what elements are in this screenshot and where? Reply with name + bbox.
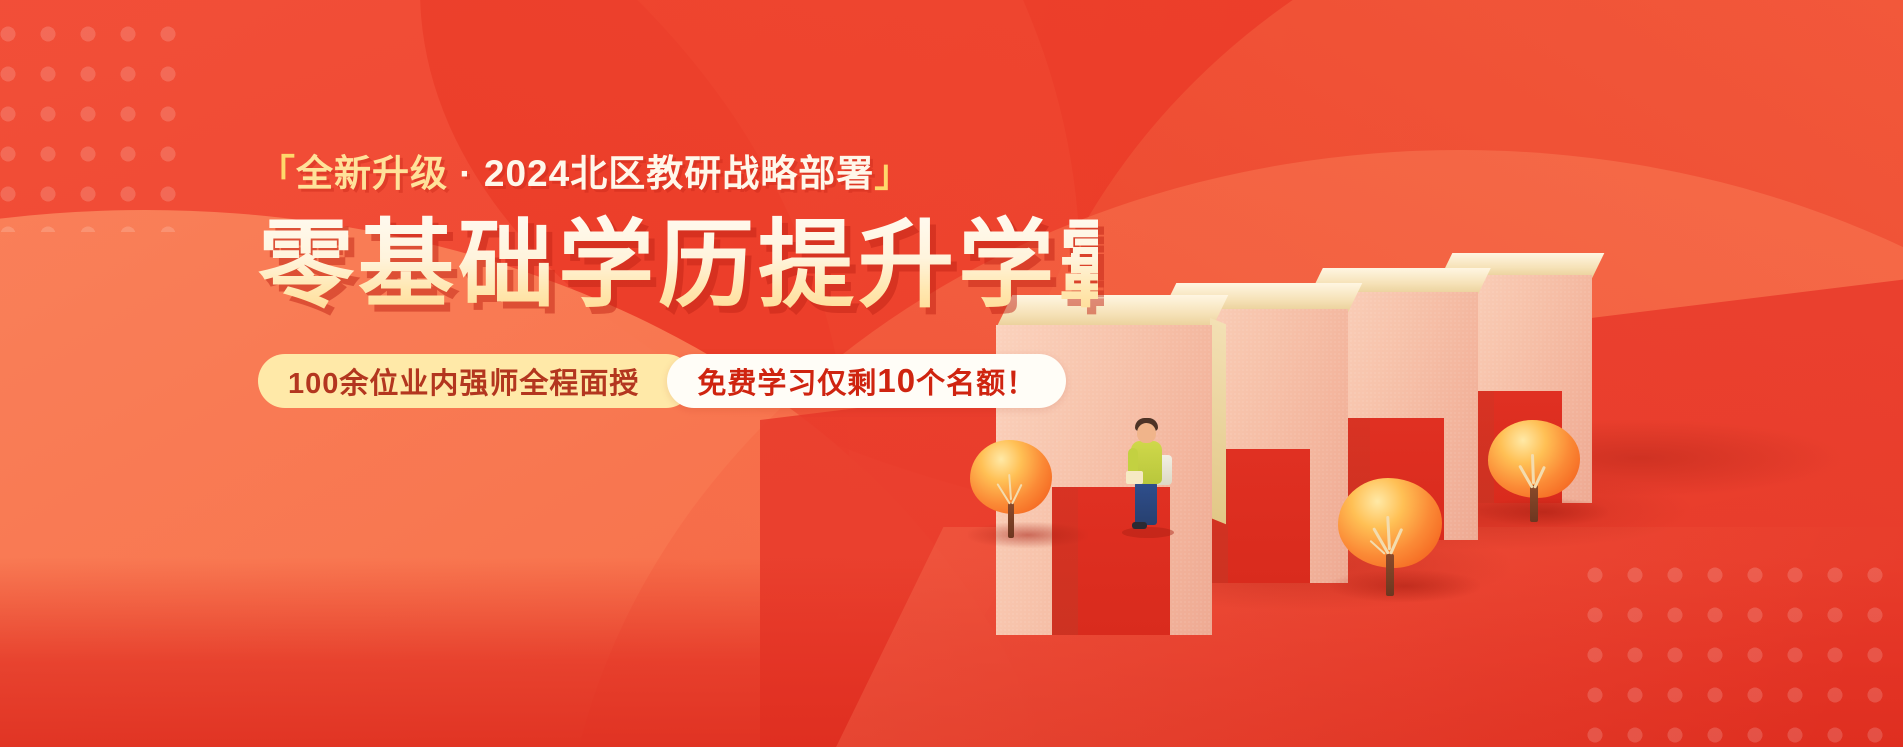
eyebrow-bracket-close: 」 (874, 153, 912, 194)
student-walking-figure (1126, 415, 1186, 540)
pill-seats-left[interactable]: 免费学习仅剩10个名额！ (667, 354, 1066, 408)
tree-left (970, 440, 1052, 538)
pill-seats-suffix: 个名额！ (916, 360, 1036, 402)
banner-eyebrow: 「全新升级 · 2024北区教研战略部署」 (258, 148, 1098, 200)
eyebrow-white-text: 2024北区教研战略部署 (484, 153, 874, 194)
tree-right (1488, 420, 1580, 522)
pill-seats-prefix: 免费学习仅剩 (697, 360, 877, 402)
pill-instructors[interactable]: 100余位业内强师全程面授 (258, 354, 693, 408)
eyebrow-bracket-open: 「 (258, 153, 296, 194)
pill-seats-count: 10 (877, 362, 916, 400)
banner-copy: 「全新升级 · 2024北区教研战略部署」 零基础学历提升学霸班 100余位业内… (258, 148, 1098, 408)
eyebrow-gold-text: 全新升级 (296, 153, 448, 194)
feature-pill-row: 100余位业内强师全程面授 免费学习仅剩10个名额！ (258, 354, 1098, 408)
eyebrow-separator: · (448, 153, 484, 194)
promo-banner[interactable]: 「全新升级 · 2024北区教研战略部署」 零基础学历提升学霸班 100余位业内… (0, 0, 1903, 747)
tree-mid (1338, 478, 1442, 596)
dot-grid-top-left-icon (0, 22, 196, 232)
page-title: 零基础学历提升学霸班 (258, 212, 1098, 320)
